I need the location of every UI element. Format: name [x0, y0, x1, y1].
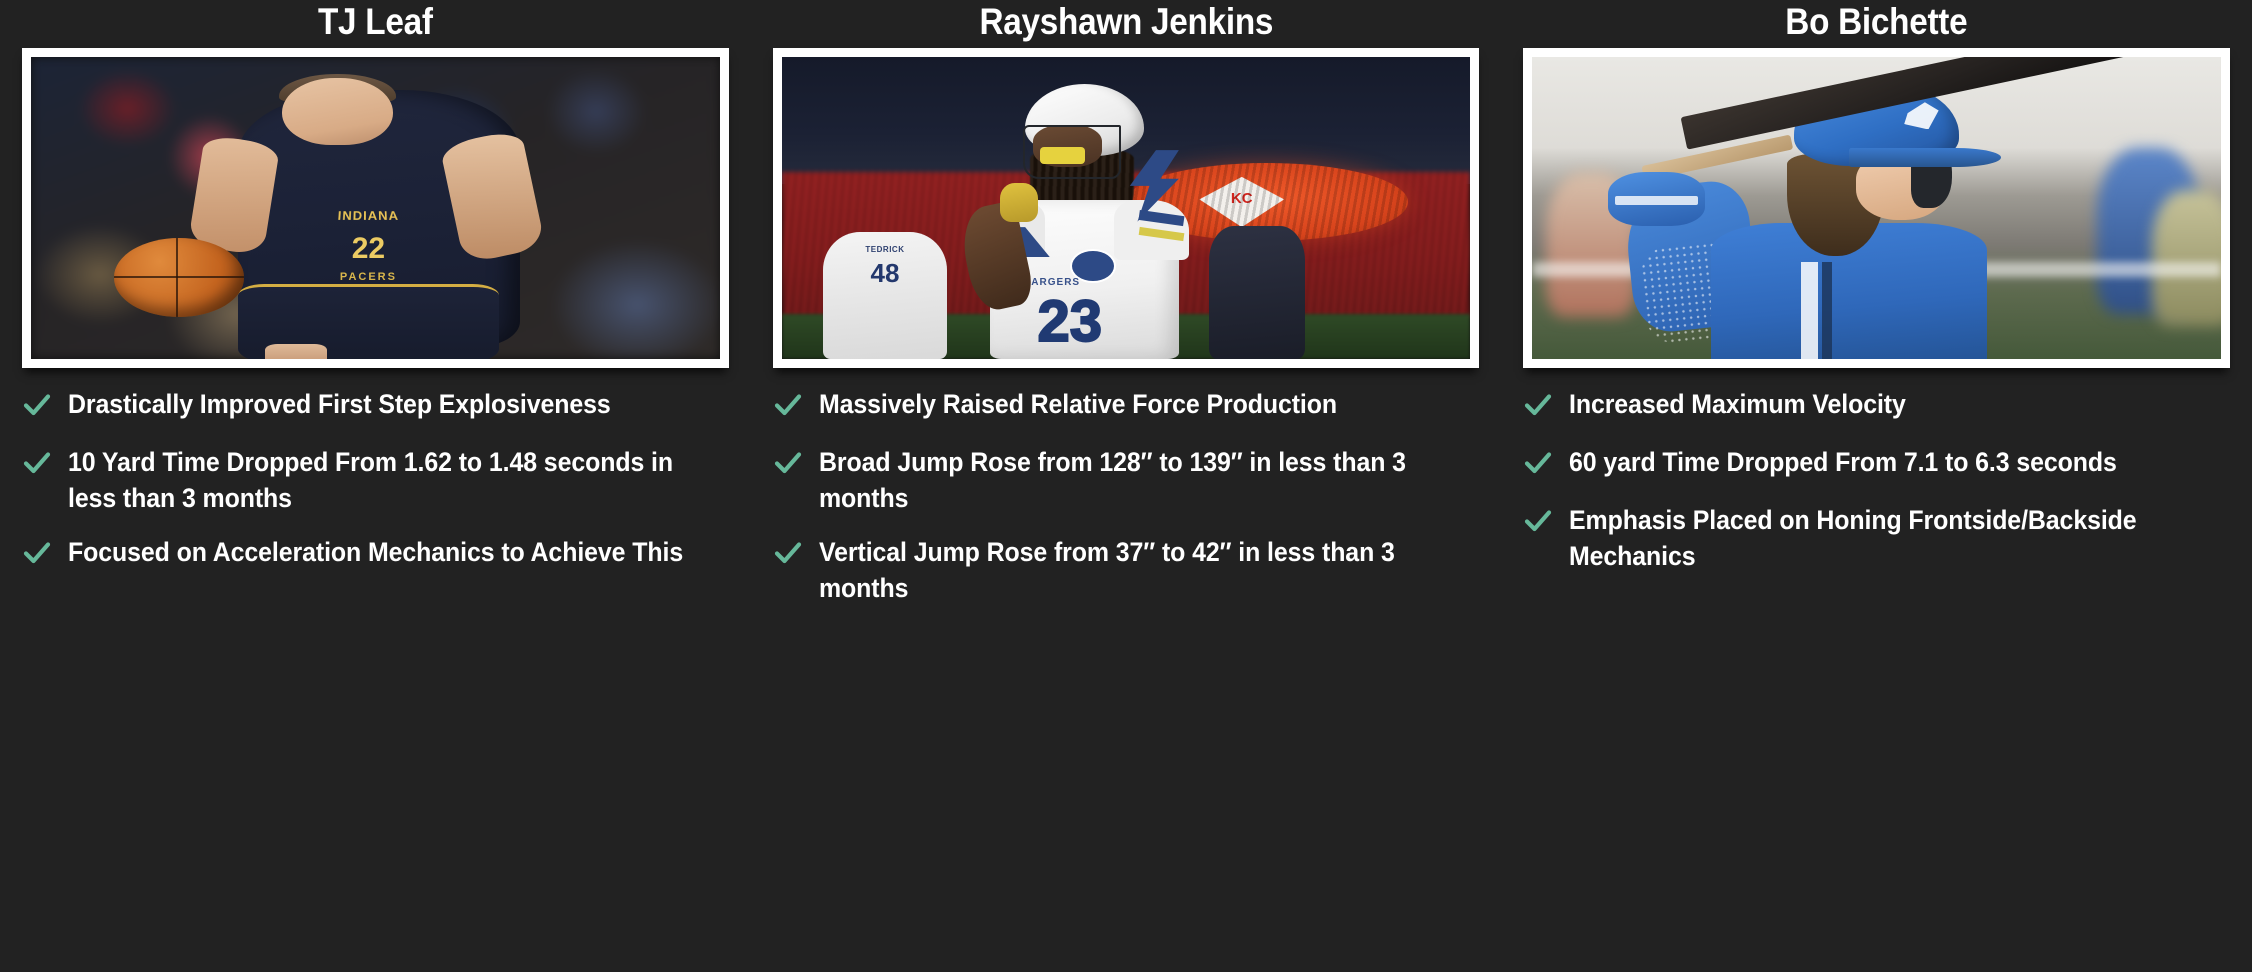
list-item-label: Vertical Jump Rose from 37″ to 42″ in le… [819, 534, 1440, 606]
player-leg [265, 344, 327, 359]
jersey-team-text: INDIANA [263, 208, 473, 222]
list-item: Massively Raised Relative Force Producti… [773, 386, 1480, 426]
athlete-photo-frame [1523, 48, 2230, 368]
player-facemask [1023, 125, 1121, 178]
list-item-label: Focused on Acceleration Mechanics to Ach… [68, 534, 683, 570]
check-icon [22, 538, 52, 574]
athlete-card-rayshawn-jenkins: Rayshawn Jenkins TEDRICK 48 [751, 0, 1502, 972]
jersey-piping-white [1801, 262, 1818, 359]
check-icon [773, 448, 803, 484]
football-player-photo: TEDRICK 48 CHARGERS 23 [782, 57, 1471, 359]
player-glove [1000, 183, 1037, 221]
list-item: Broad Jump Rose from 128″ to 139″ in les… [773, 444, 1480, 516]
jersey-piping-navy [1822, 262, 1832, 359]
athlete-name: TJ Leaf [57, 2, 693, 42]
jersey-number-text: 22 [265, 232, 472, 266]
athlete-bullet-list: Drastically Improved First Step Explosiv… [22, 386, 729, 574]
list-item: 60 yard Time Dropped From 7.1 to 6.3 sec… [1523, 444, 2230, 484]
helmet-brim [1849, 148, 2001, 168]
list-item: Vertical Jump Rose from 37″ to 42″ in le… [773, 534, 1480, 606]
athlete-name: Bo Bichette [1559, 2, 2195, 42]
athlete-name: Rayshawn Jenkins [808, 2, 1444, 42]
athlete-bullet-list: Increased Maximum Velocity 60 yard Time … [1523, 386, 2230, 574]
list-item-label: 10 Yard Time Dropped From 1.62 to 1.48 s… [68, 444, 689, 516]
list-item-label: Massively Raised Relative Force Producti… [819, 386, 1337, 422]
jersey-number-text: 23 [1015, 293, 1124, 351]
basketball-icon [114, 238, 245, 317]
list-item-label: Broad Jump Rose from 128″ to 139″ in les… [819, 444, 1440, 516]
list-item: Increased Maximum Velocity [1523, 386, 2230, 426]
baseball-player-photo [1532, 57, 2221, 359]
background-person-far-right [2152, 190, 2221, 326]
background-player [1209, 226, 1305, 359]
check-icon [773, 390, 803, 426]
list-item: Drastically Improved First Step Explosiv… [22, 386, 729, 426]
athlete-photo-frame: INDIANA 22 PACERS [22, 48, 729, 368]
teammate-name-text: TEDRICK [823, 245, 947, 254]
list-item-label: Drastically Improved First Step Explosiv… [68, 386, 611, 422]
jersey-wordmark-text: PACERS [265, 271, 472, 283]
check-icon [22, 448, 52, 484]
list-item-label: Increased Maximum Velocity [1569, 386, 1906, 422]
teammate-player: TEDRICK 48 [823, 232, 947, 359]
list-item-label: 60 yard Time Dropped From 7.1 to 6.3 sec… [1569, 444, 2117, 480]
main-player: CHARGERS 23 [961, 84, 1209, 359]
teammate-number-text: 48 [823, 260, 947, 286]
check-icon [1523, 390, 1553, 426]
basketball-player-photo: INDIANA 22 PACERS [31, 57, 720, 359]
check-icon [1523, 448, 1553, 484]
batting-glove-stripe [1615, 196, 1698, 205]
list-item: 10 Yard Time Dropped From 1.62 to 1.48 s… [22, 444, 729, 516]
list-item: Emphasis Placed on Honing Frontside/Back… [1523, 502, 2230, 574]
player-head [282, 78, 392, 144]
athlete-bullet-list: Massively Raised Relative Force Producti… [773, 386, 1480, 606]
athlete-photo-frame: TEDRICK 48 CHARGERS 23 [773, 48, 1480, 368]
list-item: Focused on Acceleration Mechanics to Ach… [22, 534, 729, 574]
athlete-card-tj-leaf: TJ Leaf INDIANA 22 PACERS [0, 0, 751, 972]
check-icon [773, 538, 803, 574]
kc-arrowhead-logo-icon [1199, 177, 1284, 227]
athlete-card-bo-bichette: Bo Bichette [1501, 0, 2252, 972]
list-item-label: Emphasis Placed on Honing Frontside/Back… [1569, 502, 2190, 574]
athlete-results-board: TJ Leaf INDIANA 22 PACERS [0, 0, 2252, 972]
check-icon [1523, 506, 1553, 542]
check-icon [22, 390, 52, 426]
